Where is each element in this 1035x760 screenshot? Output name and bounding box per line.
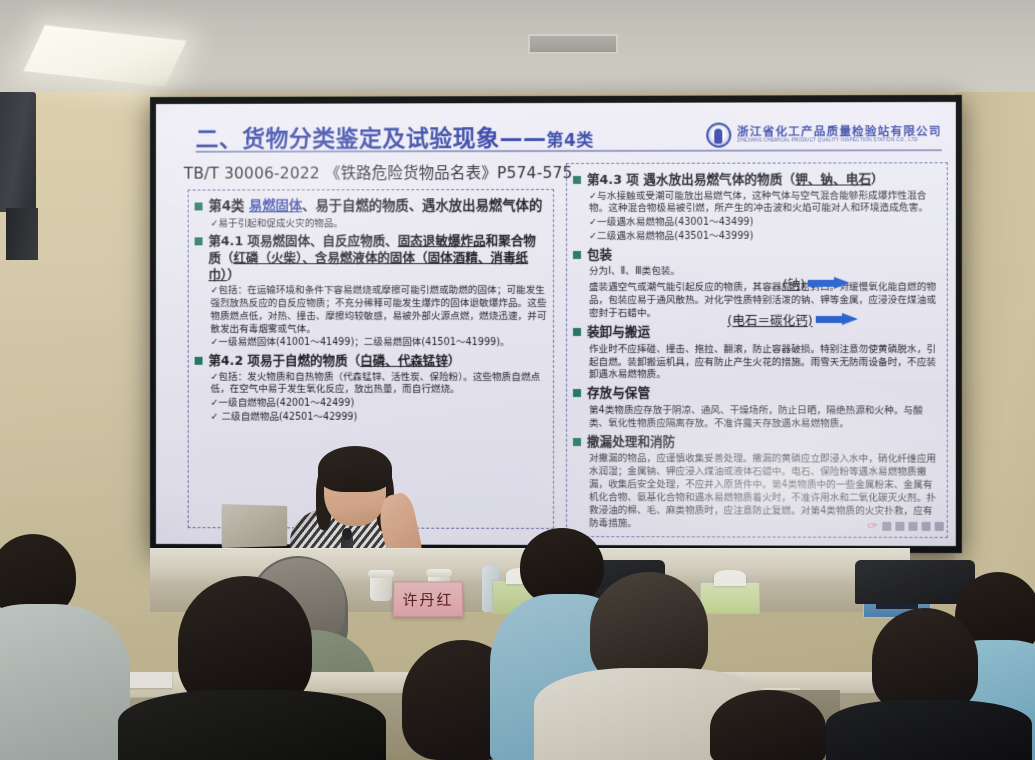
callout-calcium-carbide: (电石＝碳化钙) bbox=[727, 310, 859, 329]
presenter-hair-top bbox=[318, 446, 392, 492]
item-4-2-heading: 第4.2 项易于自燃的物质（白磷、代森锰锌） bbox=[195, 353, 547, 370]
item-4-2-bullet-2: ✓一级自燃物品(42001～42499) bbox=[210, 398, 547, 411]
chair-back bbox=[855, 560, 975, 604]
annotation-button[interactable] bbox=[908, 521, 917, 530]
section-storage-body: 第4类物质应存放于阴凉、通风、干燥场所，防止日晒，隔绝热源和火种。与酸类、氧化性… bbox=[589, 405, 941, 431]
callout-sodium: (钠) bbox=[783, 274, 853, 293]
slide-menu-button[interactable] bbox=[922, 521, 931, 530]
item-4-3-bullet-1: ✓与水接触或受潮可能放出易燃气体，这种气体与空气混合能够形成爆炸性混合物。这种混… bbox=[589, 190, 941, 216]
right-content-box: 第4.3 项 遇水放出易燃气体的物质（钾、钠、电石） ✓与水接触或受潮可能放出易… bbox=[566, 162, 948, 538]
bullet-square-icon bbox=[573, 438, 581, 446]
name-plate: 许丹红 bbox=[393, 581, 464, 616]
company-logo: 浙江省化工产品质量检验站有限公司 ZHEJIANG CHEMICAL PRODU… bbox=[706, 122, 942, 148]
class4-heading: 第4类 易燃固体、易于自燃的物质、遇水放出易燃气体的 bbox=[195, 198, 547, 216]
section-handling-body: 作业时不应摔碰、撞击、拖拉、翻滚，防止容器破损。特别注意勿使黄磷脱水，引起自燃。… bbox=[589, 344, 941, 383]
item-4-2-bullet-1: ✓包括：发火物质和自热物质（代森锰锌、活性炭、保险粉）。这些物质自燃点低，在空气… bbox=[210, 371, 547, 397]
section-spill-title: 撒漏处理和消防 bbox=[587, 434, 675, 451]
class4-heading-text: 第4类 易燃固体、易于自燃的物质、遇水放出易燃气体的 bbox=[209, 198, 543, 216]
section-packaging-heading: 包装 bbox=[573, 246, 941, 263]
conference-room-scene: ··· 二、货物分类鉴定及试验现象——第4类 浙江省化工产品质量检验站有限公司 … bbox=[0, 0, 1035, 760]
tissue-box bbox=[700, 582, 760, 614]
item-4-1-bullet-1: ✓包括：在运输环境和条件下容易燃烧或摩擦可能引燃或助燃的固体；可能发生强烈放热反… bbox=[210, 285, 547, 336]
next-slide-button[interactable] bbox=[935, 521, 944, 530]
speaker-brand-label: ··· bbox=[0, 252, 2, 258]
bullet-square-icon bbox=[573, 328, 581, 336]
logo-emblem-icon bbox=[706, 123, 731, 148]
section-packaging-body-1: 分为Ⅰ、Ⅱ、Ⅲ类包装。 bbox=[589, 266, 941, 279]
ceiling bbox=[0, 0, 1035, 92]
bullet-square-icon bbox=[195, 357, 203, 365]
item-4-3-heading: 第4.3 项 遇水放出易燃气体的物质（钾、钠、电石） bbox=[573, 171, 941, 188]
item-4-3-bullet-3: ✓二级遇水易燃物品(43501～43999) bbox=[589, 230, 941, 243]
speaker-bracket bbox=[6, 208, 38, 260]
pointer-button[interactable] bbox=[895, 521, 904, 530]
air-vent-icon bbox=[528, 34, 618, 54]
bullet-square-icon bbox=[195, 203, 203, 211]
item-4-2-heading-text: 第4.2 项易于自燃的物质（白磷、代森锰锌） bbox=[209, 353, 461, 370]
section-storage-title: 存放与保管 bbox=[587, 385, 650, 402]
item-4-2-bullet-3: ✓ 二级自燃物品(42501～42999) bbox=[210, 412, 547, 425]
bullet-square-icon bbox=[573, 176, 581, 184]
projection-screen-frame: 二、货物分类鉴定及试验现象——第4类 浙江省化工产品质量检验站有限公司 ZHEJ… bbox=[150, 95, 962, 553]
presenter-laptop bbox=[222, 504, 288, 548]
right-arrow-icon bbox=[808, 277, 852, 290]
bullet-square-icon bbox=[573, 389, 581, 397]
pen-ink-icon[interactable]: ✑ bbox=[866, 517, 879, 534]
projection-screen[interactable]: 二、货物分类鉴定及试验现象——第4类 浙江省化工产品质量检验站有限公司 ZHEJ… bbox=[156, 102, 956, 546]
bullet-square-icon bbox=[573, 251, 581, 259]
item-4-1-heading-text: 第4.1 项易燃固体、自反应物质、固态退敏爆炸品和聚合物质（红磷（火柴）、含易燃… bbox=[209, 233, 547, 283]
ppt-presenter-toolbar[interactable]: ✑ bbox=[867, 518, 944, 534]
presentation-slide[interactable]: 二、货物分类鉴定及试验现象——第4类 浙江省化工产品质量检验站有限公司 ZHEJ… bbox=[156, 102, 956, 546]
item-4-1-heading: 第4.1 项易燃固体、自反应物质、固态退敏爆炸品和聚合物质（红磷（火柴）、含易燃… bbox=[195, 233, 547, 283]
section-storage-heading: 存放与保管 bbox=[573, 385, 941, 402]
slide-title-suffix: 第4类 bbox=[547, 131, 594, 151]
slide-title: 二、货物分类鉴定及试验现象——第4类 bbox=[196, 119, 594, 154]
item-4-3-heading-text: 第4.3 项 遇水放出易燃气体的物质（钾、钠、电石） bbox=[587, 171, 884, 188]
slide-title-row: 二、货物分类鉴定及试验现象——第4类 浙江省化工产品质量检验站有限公司 ZHEJ… bbox=[156, 118, 956, 164]
callout-sodium-label: (钠) bbox=[783, 274, 805, 293]
name-plate-text: 许丹红 bbox=[402, 589, 453, 610]
logo-text-block: 浙江省化工产品质量检验站有限公司 ZHEJIANG CHEMICAL PRODU… bbox=[737, 126, 942, 143]
item-4-3-bullet-2: ✓一级遇水易燃物品(43001～43499) bbox=[589, 217, 941, 230]
prev-slide-button[interactable] bbox=[882, 521, 891, 530]
tea-cup bbox=[370, 575, 392, 601]
right-arrow-icon bbox=[816, 313, 860, 326]
class4-heading-sub: ✓易于引起和促成火灾的物品。 bbox=[210, 218, 547, 231]
bullet-square-icon bbox=[195, 238, 203, 246]
callout-calcium-carbide-label: (电石＝碳化钙) bbox=[727, 310, 812, 329]
standard-reference-line: TB/T 30006-2022 《铁路危险货物品名表》P574-575 bbox=[184, 161, 573, 184]
section-packaging-title: 包装 bbox=[587, 247, 612, 264]
wall-speaker: ··· bbox=[0, 92, 36, 212]
ceiling-light-panel bbox=[22, 24, 188, 87]
item-4-1-bullet-2: ✓一级易燃固体(41001～41499)；二级易燃固体(41501～41999)… bbox=[210, 337, 547, 350]
section-handling-title: 装卸与搬运 bbox=[587, 324, 650, 341]
section-spill-heading: 撒漏处理和消防 bbox=[573, 434, 941, 451]
logo-company-en: ZHEJIANG CHEMICAL PRODUCT QUALITY INSPEC… bbox=[737, 138, 942, 143]
slide-title-main: 二、货物分类鉴定及试验现象—— bbox=[196, 126, 547, 153]
